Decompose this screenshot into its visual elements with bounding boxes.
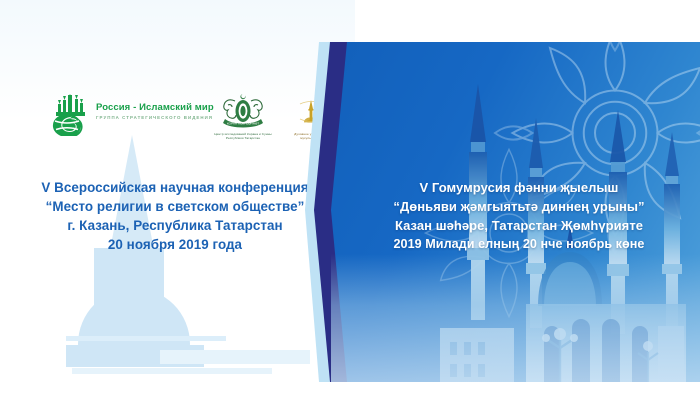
logo-row: Россия - Исламский мир ГРУППА СТРАТЕГИЧЕ…	[52, 92, 342, 150]
emblem-shield-icon: КОРАН ҺӘМ СӨННӘТ	[212, 92, 274, 132]
logo1-subtitle: ГРУППА СТРАТЕГИЧЕСКОГО ВИДЕНИЯ	[96, 115, 214, 120]
watermark-wall-lower	[72, 368, 272, 374]
kremlin-globe-icon	[52, 94, 92, 136]
russian-line-3: г. Казань, Республика Татарстан	[0, 216, 350, 235]
svg-text:КОРАН ҺӘМ СӨННӘТ: КОРАН ҺӘМ СӨННӘТ	[227, 121, 259, 125]
russian-line-2: “Место религии в светском обществе”	[0, 197, 350, 216]
conference-banner: Россия - Исламский мир ГРУППА СТРАТЕГИЧЕ…	[0, 0, 700, 412]
russian-line-4: 20 ноября 2019 года	[0, 235, 350, 254]
watermark-shaft	[94, 248, 164, 318]
russian-text-block: V Всероссийская научная конференция “Мес…	[0, 178, 350, 254]
logo2-caption-line2: Республики Татарстан	[226, 136, 260, 140]
tatar-line-1: V Гомумрусия фәнни җыелыш	[349, 178, 689, 197]
logo-russia-islamic-world: Россия - Исламский мир ГРУППА СТРАТЕГИЧЕ…	[52, 92, 227, 138]
left-panel: Россия - Исламский мир ГРУППА СТРАТЕГИЧЕ…	[0, 0, 355, 382]
watermark-ledge	[66, 336, 226, 341]
tatar-text-block: V Гомумрусия фәнни җыелыш “Дөньяви җәмгы…	[349, 178, 689, 254]
logo2-caption-line1: Центр исследований Корана и Сунны	[214, 132, 271, 136]
watermark-wall	[160, 350, 310, 364]
right-panel: V Гомумрусия фәнни җыелыш “Дөньяви җәмгы…	[305, 42, 700, 382]
tatar-line-3: Казан шәһәре, Татарстан Җөмһүрияте	[349, 216, 689, 235]
russian-line-1: V Всероссийская научная конференция	[0, 178, 350, 197]
logo1-text: Россия - Исламский мир ГРУППА СТРАТЕГИЧЕ…	[96, 102, 214, 120]
logo1-title: Россия - Исламский мир	[96, 102, 214, 113]
building-photo-band	[331, 254, 700, 382]
tatar-line-4: 2019 Милади елның 20 нче ноябрь көне	[349, 235, 689, 254]
logo-quran-sunna-center: КОРАН ҺӘМ СӨННӘТ Центр исследований Кора…	[212, 92, 274, 148]
tatar-line-2: “Дөньяви җәмгыятьтә диннең урыны”	[349, 197, 689, 216]
logo2-caption: Центр исследований Корана и Сунны Респуб…	[214, 132, 271, 141]
